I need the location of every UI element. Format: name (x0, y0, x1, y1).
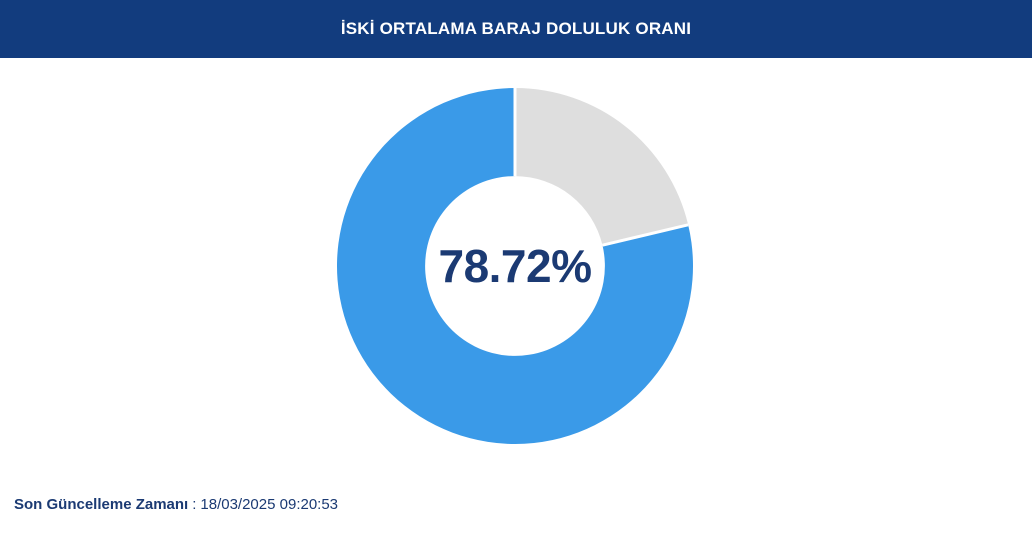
dam-occupancy-page: İSKİ ORTALAMA BARAJ DOLULUK ORANI 78.72%… (0, 0, 1032, 535)
last-update-value: 18/03/2025 09:20:53 (200, 496, 338, 513)
page-title: İSKİ ORTALAMA BARAJ DOLULUK ORANI (341, 19, 691, 39)
donut-slice[interactable] (515, 88, 688, 245)
donut-chart: 78.72% (337, 88, 693, 444)
last-update-separator: : (192, 496, 196, 513)
chart-area: 78.72% (0, 58, 1032, 473)
last-update-footer: Son Güncelleme Zamanı : 18/03/2025 09:20… (14, 496, 338, 513)
page-header: İSKİ ORTALAMA BARAJ DOLULUK ORANI (0, 0, 1032, 58)
donut-chart-svg (337, 88, 693, 444)
last-update-label: Son Güncelleme Zamanı (14, 496, 188, 513)
